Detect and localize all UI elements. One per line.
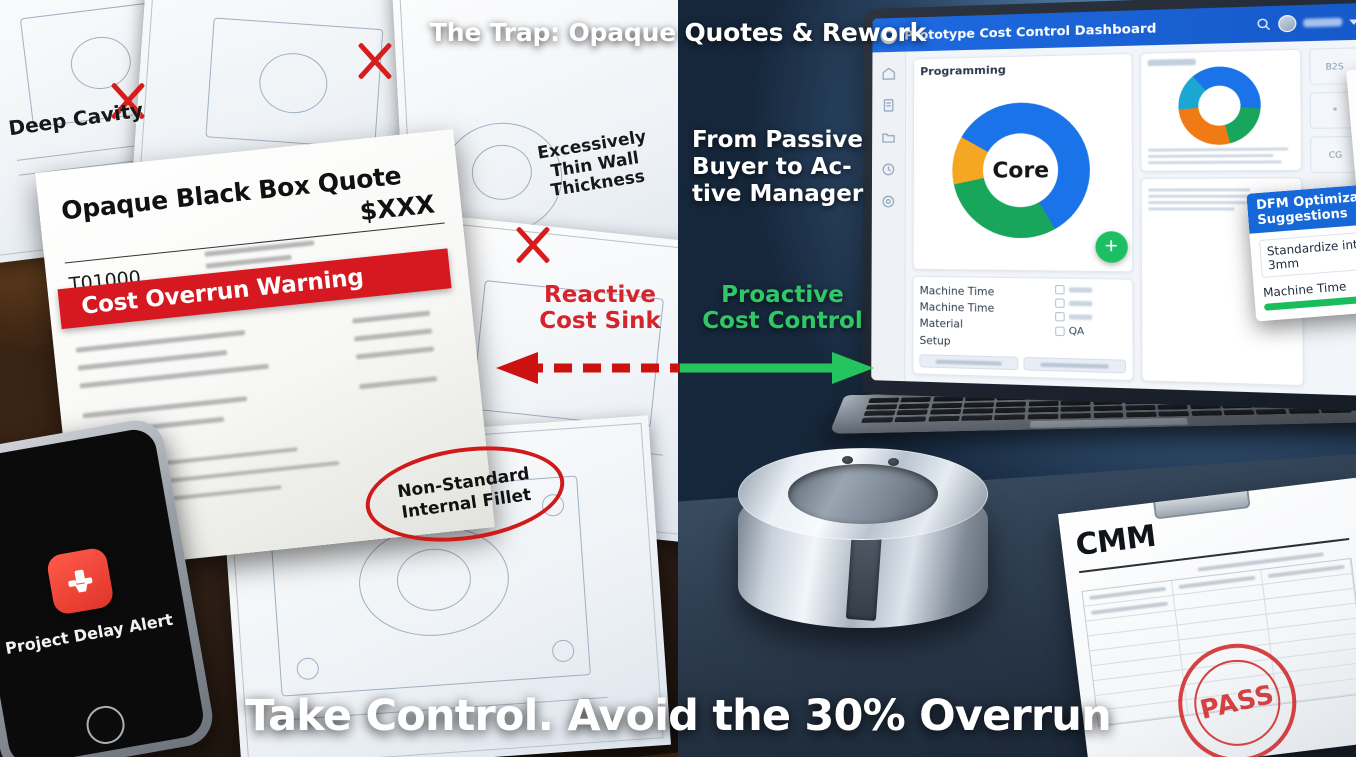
secondary-chart-card bbox=[1140, 49, 1302, 172]
phone-alert-label: Project Delay Alert bbox=[4, 609, 175, 657]
donut-chart-secondary[interactable] bbox=[1179, 66, 1262, 145]
folder-icon[interactable] bbox=[881, 130, 896, 145]
tool-button[interactable]: CG bbox=[1310, 136, 1356, 173]
add-button[interactable]: + bbox=[1095, 231, 1127, 263]
dashboard-left-column: Programming Core + bbox=[912, 53, 1133, 381]
part-bore bbox=[788, 464, 938, 524]
donut-center-label: Core bbox=[983, 133, 1058, 207]
checkbox[interactable] bbox=[1055, 298, 1065, 308]
alert-app-icon bbox=[45, 546, 115, 616]
checkbox-group: QA bbox=[1055, 285, 1126, 355]
reactive-arrow-icon bbox=[492, 352, 692, 384]
card-title-placeholder bbox=[1147, 59, 1195, 66]
bottom-banner: Take Control. Avoid the 30% Overrun bbox=[0, 691, 1356, 741]
document-icon[interactable] bbox=[881, 98, 896, 113]
trackpad[interactable] bbox=[1029, 417, 1189, 428]
proactive-arrow-icon bbox=[678, 352, 878, 384]
checkbox[interactable] bbox=[1055, 285, 1065, 295]
programming-chart-card: Programming Core + bbox=[913, 53, 1133, 272]
page-title: The Trap: Opaque Quotes & Rework bbox=[0, 18, 1356, 47]
checkbox-label-qa: QA bbox=[1069, 326, 1085, 338]
checkbox[interactable] bbox=[1055, 312, 1065, 322]
home-icon[interactable] bbox=[881, 66, 896, 81]
dashboard-sidebar bbox=[871, 52, 906, 382]
machined-metal-part bbox=[738, 448, 988, 663]
cost-breakdown-card: Machine Time Machine Time Material Setup bbox=[912, 276, 1133, 381]
reactive-label: Reactive Cost Sink bbox=[530, 282, 670, 334]
checkbox[interactable] bbox=[1055, 326, 1065, 336]
action-button[interactable] bbox=[919, 354, 1018, 370]
part-hole bbox=[888, 458, 899, 466]
middle-heading: From Passive Buyer to Ac- tive Manager bbox=[692, 127, 867, 208]
part-hole bbox=[842, 456, 853, 464]
donut-ring: Core bbox=[953, 102, 1091, 239]
quote-amount: $XXX bbox=[358, 190, 436, 227]
proactive-label: Proactive Cost Control bbox=[700, 282, 865, 334]
laptop: Prototype Cost Control Dashboard bbox=[853, 8, 1353, 438]
clock-icon[interactable] bbox=[881, 162, 896, 177]
chart-card-label: Programming bbox=[920, 60, 1125, 78]
cost-item-list: Machine Time Machine Time Material Setup bbox=[919, 283, 1048, 352]
dfm-suggestion-item[interactable]: Standardize internal radii to 3mm bbox=[1259, 224, 1356, 278]
red-x-mark-wall bbox=[510, 222, 556, 268]
dfm-optimization-popup: DFM Optimization Suggestions Standardize… bbox=[1246, 176, 1356, 321]
action-button[interactable] bbox=[1023, 357, 1125, 373]
settings-icon[interactable] bbox=[881, 194, 896, 209]
infographic-canvas: Deep Cavity Excessively Thin Wall Thickn… bbox=[0, 0, 1356, 757]
list-item[interactable]: Setup bbox=[919, 332, 1048, 352]
donut-chart-core[interactable]: Core + bbox=[920, 76, 1126, 265]
